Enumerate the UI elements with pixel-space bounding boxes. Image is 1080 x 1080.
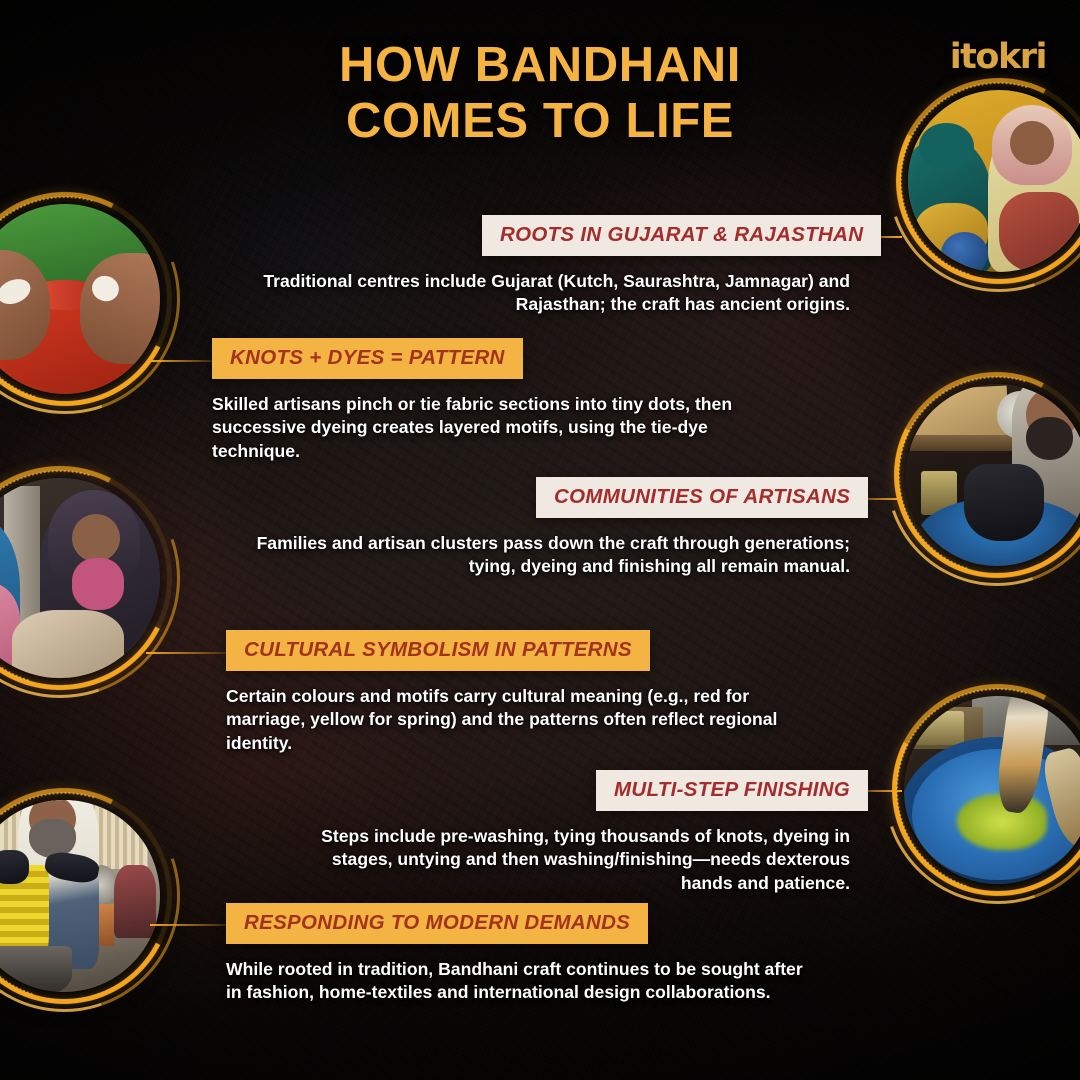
title-line-1: HOW BANDHANI	[339, 38, 741, 92]
section-body: While rooted in tradition, Bandhani craf…	[226, 958, 806, 1005]
section-multi-step-finishing: MULTI-STEP FINISHING Steps include pre-w…	[300, 770, 850, 895]
section-body: Certain colours and motifs carry cultura…	[226, 685, 806, 755]
infographic-poster: HOW BANDHANI COMES TO LIFE itokri	[0, 0, 1080, 1080]
section-badge[interactable]: COMMUNITIES OF ARTISANS	[536, 477, 868, 518]
section-body: Steps include pre-washing, tying thousan…	[300, 825, 850, 895]
section-badge[interactable]: RESPONDING TO MODERN DEMANDS	[226, 903, 648, 944]
connector-line-2	[150, 360, 216, 362]
section-body: Traditional centres include Gujarat (Kut…	[250, 270, 850, 317]
section-badge[interactable]: ROOTS IN GUJARAT & RAJASTHAN	[482, 215, 881, 256]
section-cultural-symbolism-in-patterns: CULTURAL SYMBOLISM IN PATTERNS Certain c…	[226, 630, 806, 755]
title-line-2: COMES TO LIFE	[0, 94, 1080, 150]
itokri-logo[interactable]: itokri	[950, 40, 1046, 75]
section-roots-in-gujarat-rajasthan: ROOTS IN GUJARAT & RAJASTHAN Traditional…	[250, 215, 850, 317]
connector-line-6	[150, 924, 230, 926]
photo-artisan-lifting-yellow-dyed-fabric	[0, 788, 172, 1004]
photo-blue-dye-vat-with-yellow-fabric	[892, 684, 1080, 896]
section-responding-to-modern-demands: RESPONDING TO MODERN DEMANDS While roote…	[226, 903, 806, 1005]
section-badge[interactable]: CULTURAL SYMBOLISM IN PATTERNS	[226, 630, 650, 671]
connector-line-4	[146, 652, 230, 654]
section-communities-of-artisans: COMMUNITIES OF ARTISANS Families and art…	[238, 477, 850, 579]
section-knots-dyes-pattern: KNOTS + DYES = PATTERN Skilled artisans …	[212, 338, 772, 463]
photo-dyer-with-gloves-in-blue-tub	[894, 372, 1080, 578]
section-badge[interactable]: MULTI-STEP FINISHING	[596, 770, 868, 811]
photo-hands-tying-red-fabric-green-cloth	[0, 192, 172, 406]
photo-women-artisans-tying-at-pillar	[0, 466, 172, 690]
page-title: HOW BANDHANI COMES TO LIFE	[0, 38, 1080, 150]
section-body: Families and artisan clusters pass down …	[238, 532, 850, 579]
section-badge[interactable]: KNOTS + DYES = PATTERN	[212, 338, 523, 379]
section-body: Skilled artisans pinch or tie fabric sec…	[212, 393, 772, 463]
